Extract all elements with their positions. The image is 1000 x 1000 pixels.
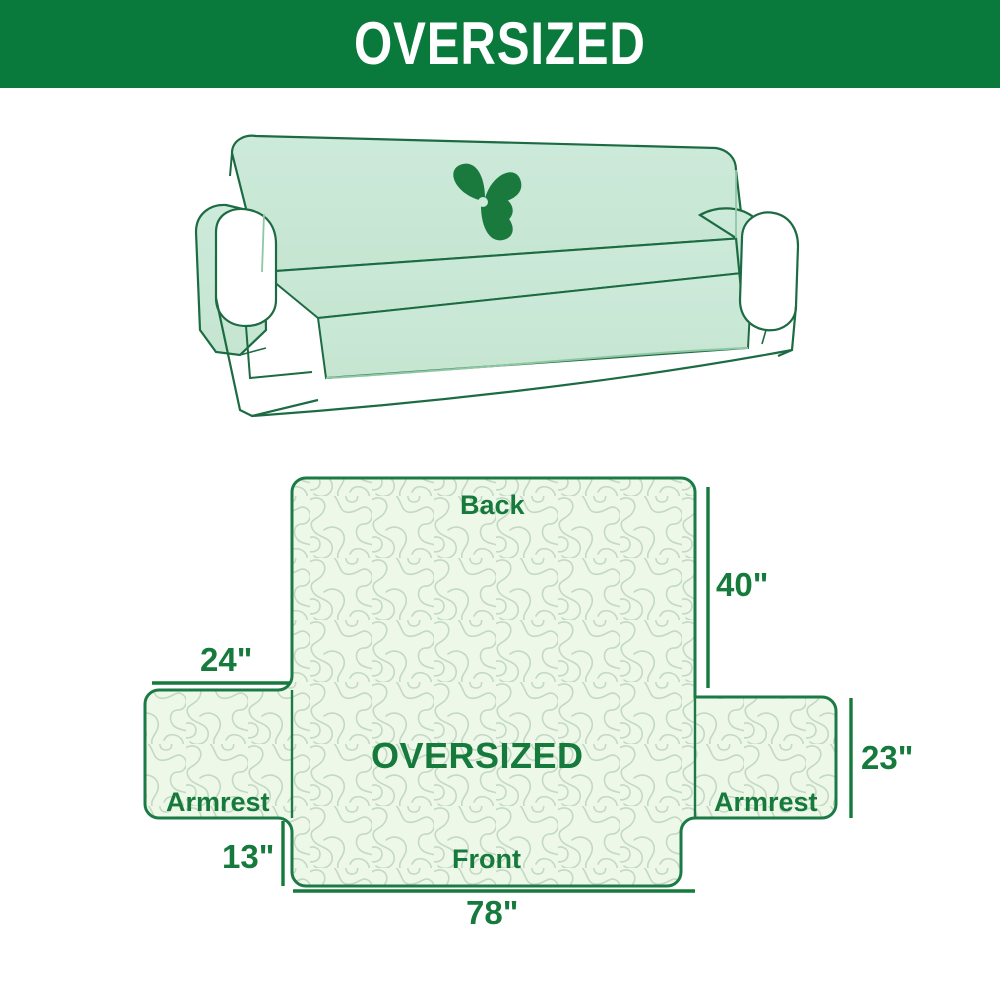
flat-lay-diagram (145, 478, 851, 891)
dimension-label-24in: 24" (200, 643, 252, 676)
flat-label-front: Front (452, 846, 521, 873)
flat-label-armrest-right: Armrest (714, 789, 818, 816)
dimension-label-40in: 40" (716, 568, 768, 601)
dimension-label-23in: 23" (861, 741, 913, 774)
flat-center-label: OVERSIZED (371, 738, 584, 774)
flat-label-armrest-left: Armrest (166, 789, 270, 816)
sofa-illustration (196, 136, 798, 416)
dimension-label-13in: 13" (222, 840, 274, 873)
sofa-back-left-edge (230, 153, 232, 176)
sofa-right-arm-crease (762, 330, 766, 344)
dimension-label-78in: 78" (466, 896, 518, 929)
sofa-right-arm-roll (740, 212, 798, 330)
flat-label-back: Back (460, 492, 525, 519)
sofa-left-arm-roll (216, 209, 276, 326)
